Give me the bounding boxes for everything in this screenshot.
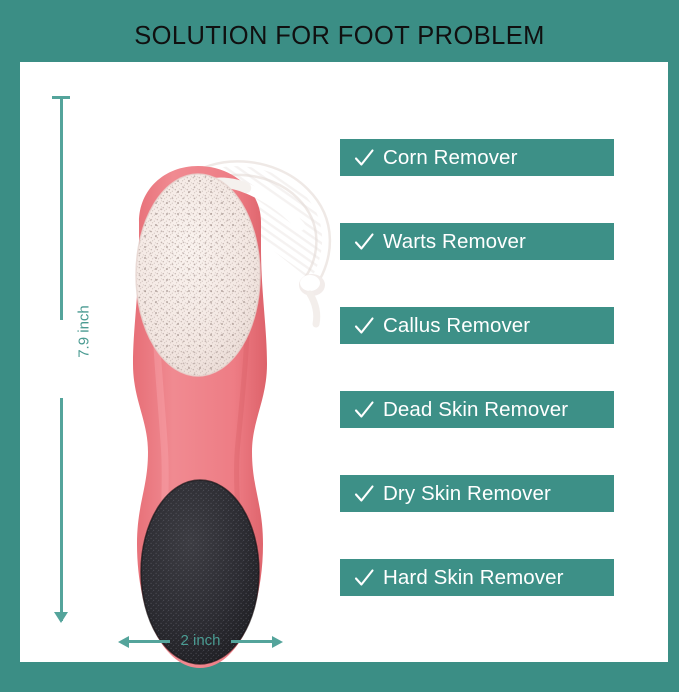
feature-list: Corn RemoverWarts RemoverCallus RemoverD… — [340, 139, 616, 596]
check-icon — [353, 147, 375, 169]
feature-label: Dead Skin Remover — [383, 398, 568, 422]
height-dimension-label: 7.9 inch — [76, 272, 93, 392]
product-image — [120, 152, 370, 692]
width-dimension-arrow-right — [272, 636, 283, 648]
feature-bar[interactable]: Warts Remover — [340, 223, 614, 260]
check-icon — [353, 399, 375, 421]
feature-label: Dry Skin Remover — [383, 482, 551, 506]
check-icon — [353, 315, 375, 337]
pumice-stone-pad — [136, 174, 260, 376]
feature-bar[interactable]: Hard Skin Remover — [340, 559, 614, 596]
product-infographic: SOLUTION FOR FOOT PROBLEM — [0, 0, 679, 679]
feature-label: Corn Remover — [383, 146, 518, 170]
feature-bar[interactable]: Callus Remover — [340, 307, 614, 344]
check-icon — [353, 231, 375, 253]
feature-bar[interactable]: Dry Skin Remover — [340, 475, 614, 512]
feature-label: Hard Skin Remover — [383, 566, 564, 590]
feature-bar[interactable]: Corn Remover — [340, 139, 614, 176]
feature-bar[interactable]: Dead Skin Remover — [340, 391, 614, 428]
height-label-backdrop — [53, 320, 70, 398]
feature-label: Callus Remover — [383, 314, 530, 338]
width-dimension-line-right — [231, 640, 273, 643]
check-icon — [353, 567, 375, 589]
height-dimension-arrow — [54, 612, 68, 623]
feature-label: Warts Remover — [383, 230, 526, 254]
check-icon — [353, 483, 375, 505]
width-dimension: 2 inch — [118, 631, 283, 651]
page-title: SOLUTION FOR FOOT PROBLEM — [0, 22, 679, 51]
